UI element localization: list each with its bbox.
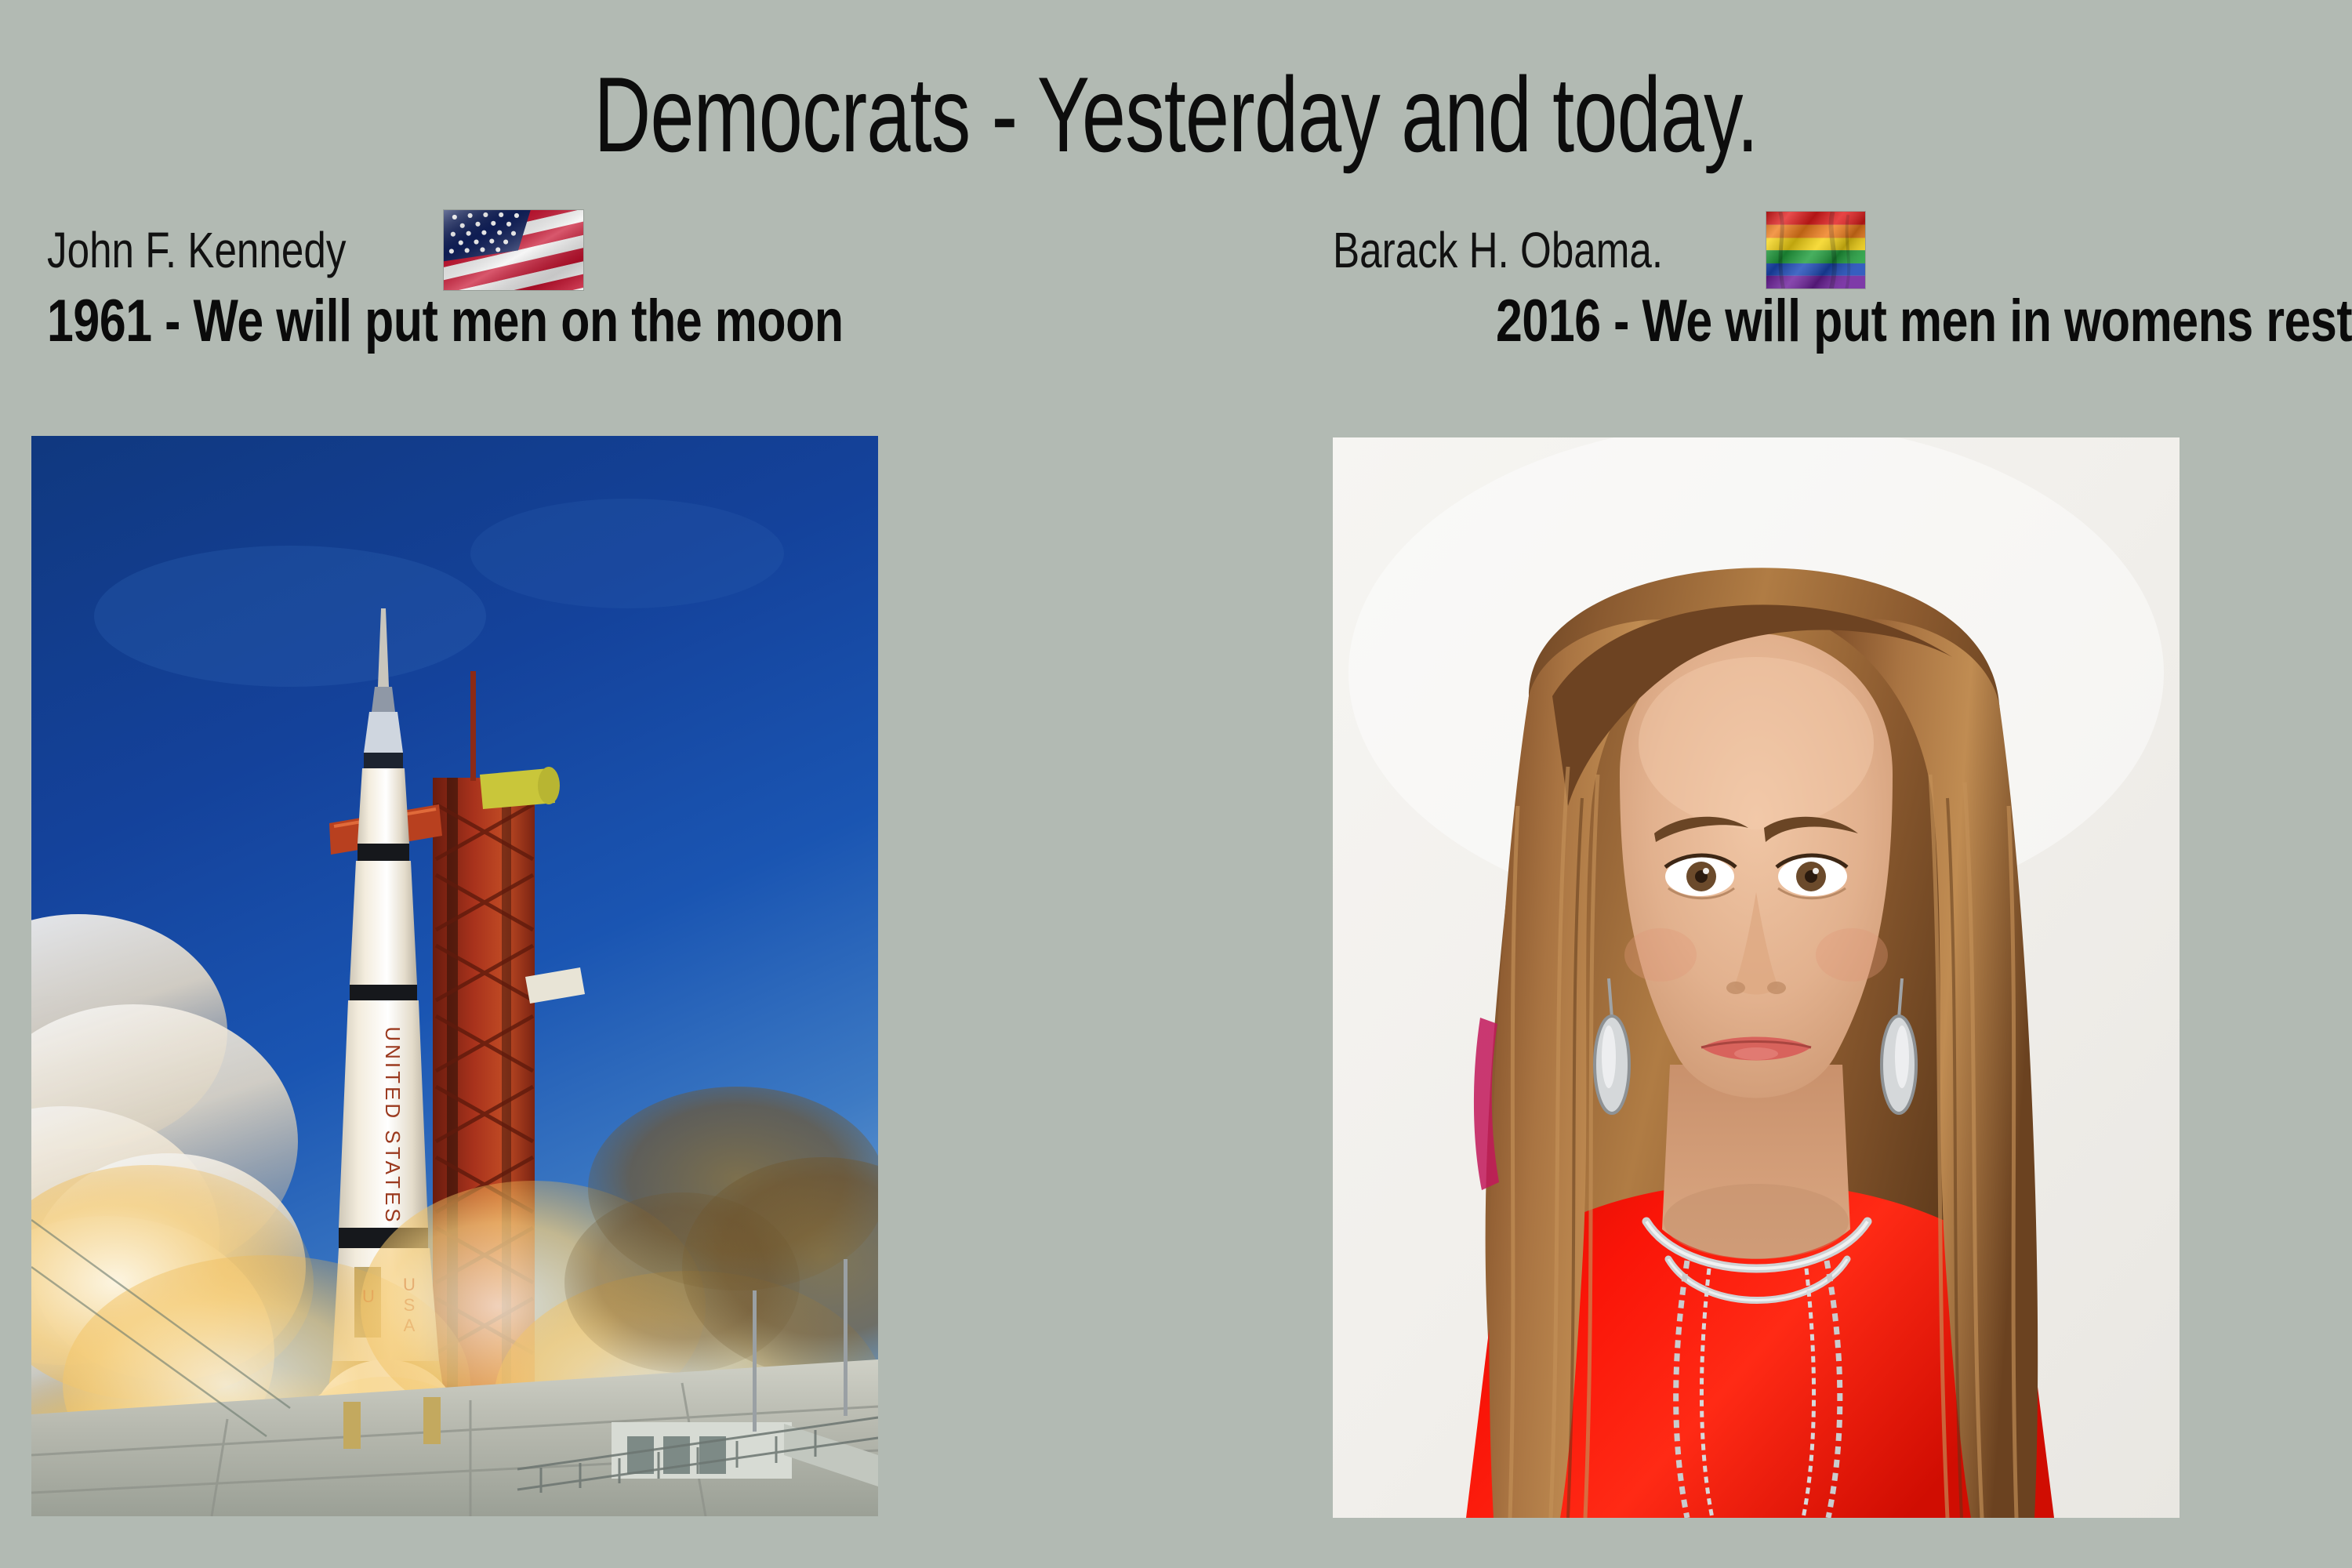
us-flag-icon bbox=[443, 209, 584, 291]
left-person-name: John F. Kennedy bbox=[47, 221, 346, 279]
left-statement: 1961 - We will put men on the moon bbox=[47, 287, 750, 355]
portrait-photo bbox=[1333, 437, 2180, 1518]
right-caption-block: Barack H. Obama. bbox=[1286, 220, 2336, 355]
page-title: Democrats - Yesterday and today. bbox=[306, 61, 2046, 168]
rainbow-pride-flag-icon bbox=[1766, 211, 1866, 289]
right-name-row: Barack H. Obama. bbox=[1286, 220, 2336, 281]
left-caption-block: John F. Kennedy bbox=[47, 220, 925, 355]
right-statement: 2016 - We will put men in womens restroo… bbox=[1496, 287, 2336, 355]
saturn-v-rocket-launch-photo: UNITED STATES U U S A bbox=[31, 436, 878, 1516]
left-name-row: John F. Kennedy bbox=[47, 220, 925, 281]
right-person-name: Barack H. Obama. bbox=[1333, 221, 1663, 279]
